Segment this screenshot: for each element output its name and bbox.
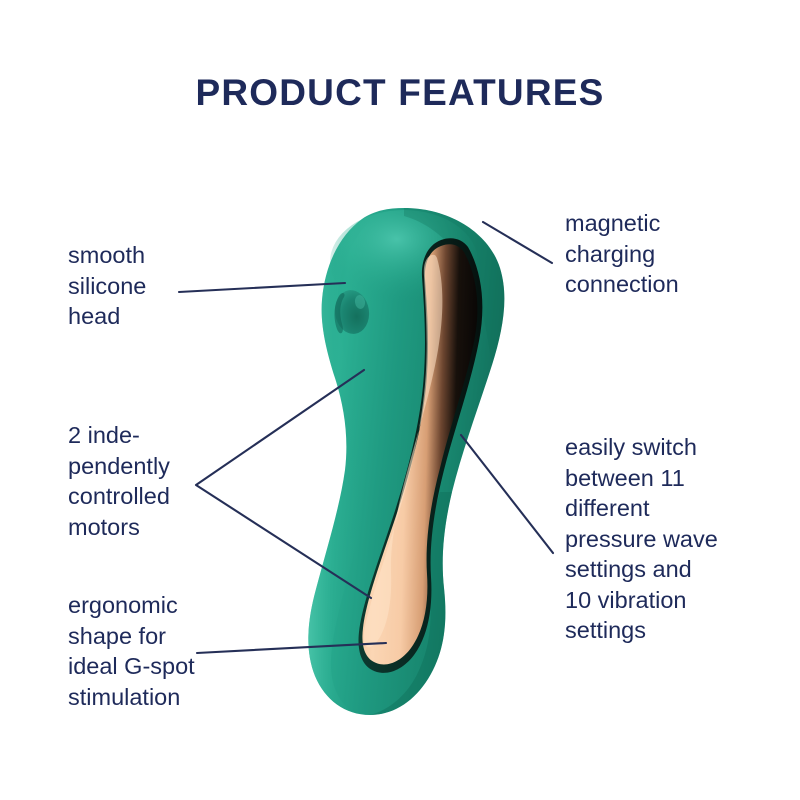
product-features-infographic: PRODUCT FEATURES bbox=[0, 0, 800, 800]
leader-line-magnetic bbox=[483, 222, 552, 263]
leader-line-settings bbox=[461, 435, 553, 553]
leader-line-smooth-head bbox=[179, 283, 345, 292]
leader-line-motors bbox=[196, 370, 371, 598]
leader-line-ergonomic bbox=[197, 643, 386, 653]
leader-lines bbox=[0, 0, 800, 800]
